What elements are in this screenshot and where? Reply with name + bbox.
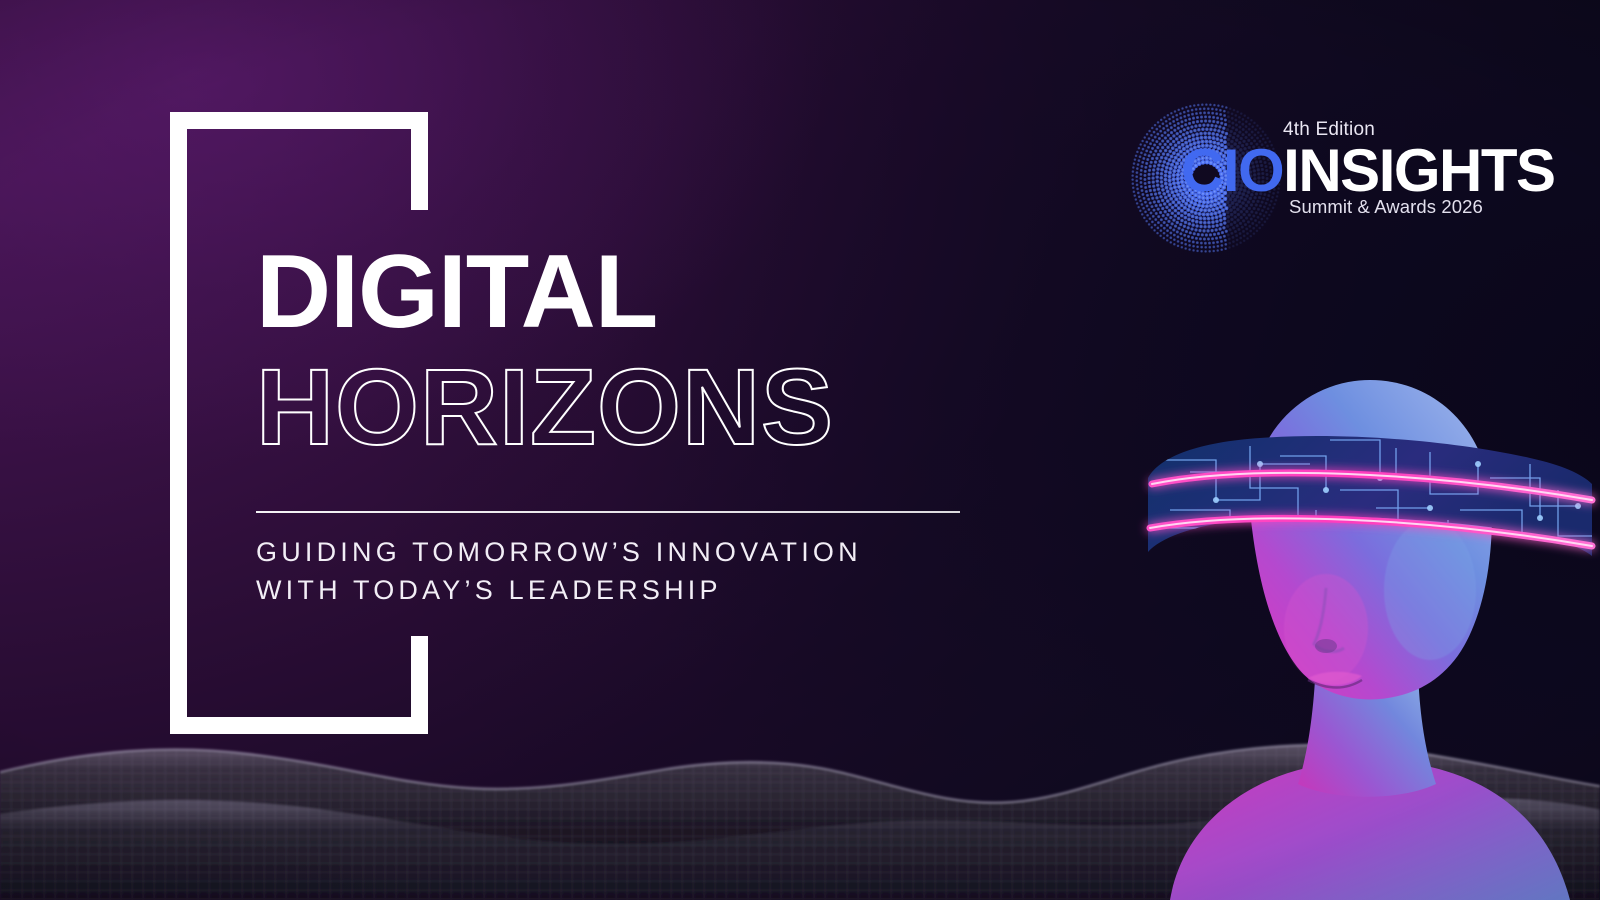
bracket-top-right-arm — [411, 112, 428, 210]
event-logo: 4th Edition CIOINSIGHTS Summit & Awards … — [1131, 103, 1491, 248]
bracket-bottom-edge — [170, 717, 428, 734]
logo-subtitle: Summit & Awards 2026 — [1289, 196, 1483, 218]
logo-wordmark-cio: CIO — [1181, 137, 1283, 204]
bracket-bottom-right-arm — [411, 636, 428, 734]
bracket-top-edge — [170, 112, 428, 129]
headline-divider-rule — [256, 511, 960, 513]
headline-line-digital: DIGITAL — [256, 243, 1036, 343]
headline-line-horizons: HORIZONS — [256, 353, 1036, 461]
event-banner: DIGITAL HORIZONS GUIDING TOMORROW’S INNO… — [0, 0, 1600, 900]
bracket-left-edge — [170, 112, 187, 734]
logo-wordmark: CIOINSIGHTS — [1181, 141, 1555, 201]
page-title: DIGITAL HORIZONS — [256, 243, 1036, 461]
tagline-text: GUIDING TOMORROW’S INNOVATION WITH TODAY… — [256, 533, 862, 610]
logo-wordmark-insights: INSIGHTS — [1283, 137, 1554, 204]
